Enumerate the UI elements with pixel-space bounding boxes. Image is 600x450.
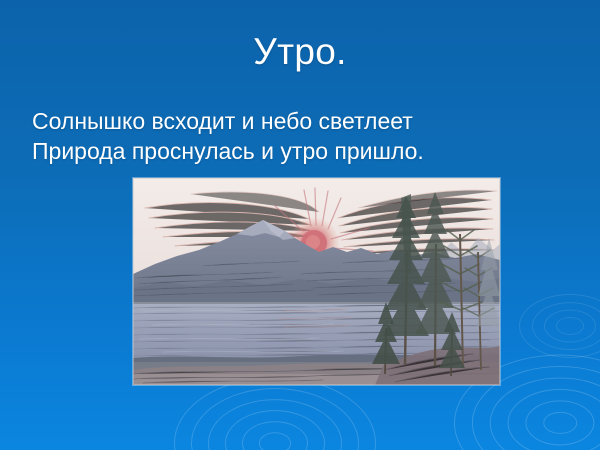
slide-canvas: Утро. Солнышко всходит и небо светлеет П… <box>0 0 600 450</box>
slide-title: Утро. <box>0 30 600 74</box>
slide-body-text: Солнышко всходит и небо светлеет Природа… <box>32 106 572 166</box>
slide-picture-sunrise-drawing <box>133 178 500 385</box>
body-line-2: Природа проснулась и утро пришло. <box>32 136 572 166</box>
ripple-rings-small-icon <box>520 295 600 357</box>
sunrise-drawing-svg <box>133 178 500 385</box>
ripple-rings-bottom-left-icon <box>175 378 375 450</box>
body-line-1: Солнышко всходит и небо светлеет <box>32 106 572 136</box>
